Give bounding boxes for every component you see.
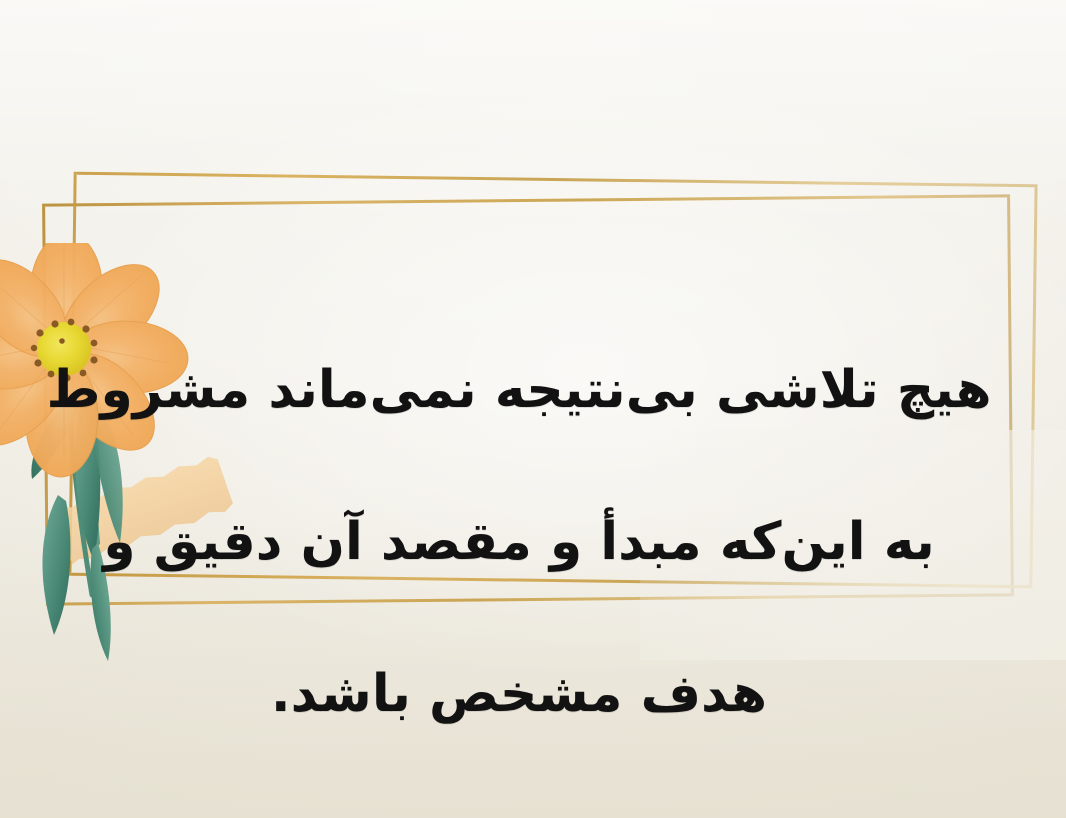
quote-line-1: هیچ تلاشی بی‌نتیجه نمی‌ماند مشروط bbox=[0, 352, 1038, 428]
quote-line-2: به این‌که مبدأ و مقصد آن دقیق و bbox=[0, 504, 1038, 580]
quote-text: هیچ تلاشی بی‌نتیجه نمی‌ماند مشروط به این… bbox=[0, 276, 1038, 808]
quote-line-3: هدف مشخص باشد. bbox=[0, 656, 1038, 732]
quote-card-canvas: هیچ تلاشی بی‌نتیجه نمی‌ماند مشروط به این… bbox=[0, 0, 1066, 818]
